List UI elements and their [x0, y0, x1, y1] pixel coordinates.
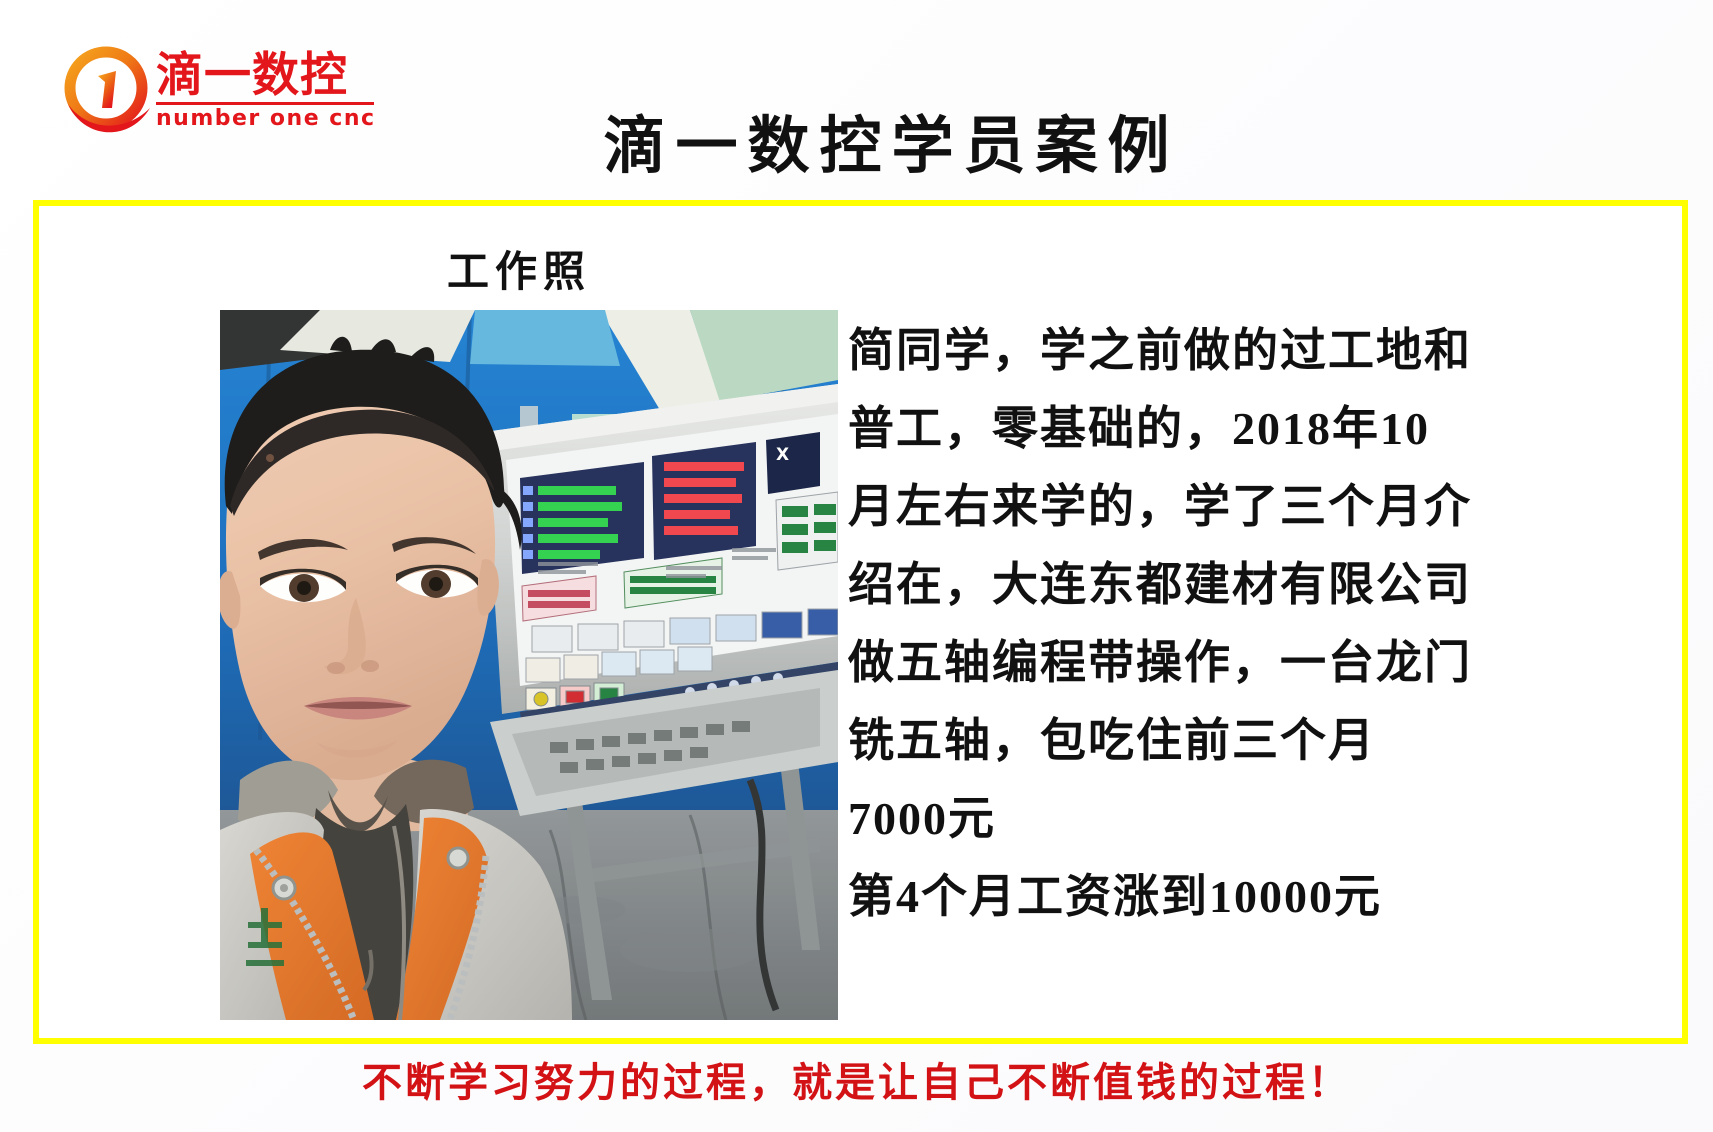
- brand-name-cn: 滴一数控: [156, 50, 378, 102]
- footer-slogan: 不断学习努力的过程，就是让自己不断值钱的过程！: [0, 1056, 1713, 1110]
- photo-label: 工作照: [447, 248, 591, 298]
- testimonial-line: 第4个月工资涨到10000元: [848, 858, 1548, 936]
- testimonial-text: 简同学，学之前做的过工地和 普工，零基础的，2018年10 月左右来学的，学了三…: [848, 312, 1548, 936]
- testimonial-line: 普工，零基础的，2018年10: [848, 390, 1548, 468]
- testimonial-line: 铣五轴，包吃住前三个月: [848, 702, 1548, 780]
- student-work-photo: X: [220, 310, 838, 1020]
- page-title: 滴一数控学员案例: [0, 108, 1713, 186]
- testimonial-line: 做五轴编程带操作，一台龙门: [848, 624, 1548, 702]
- testimonial-line: 月左右来学的，学了三个月介: [848, 468, 1548, 546]
- testimonial-line: 简同学，学之前做的过工地和: [848, 312, 1548, 390]
- testimonial-line: 绍在，大连东都建材有限公司: [848, 546, 1548, 624]
- testimonial-line: 7000元: [848, 780, 1548, 858]
